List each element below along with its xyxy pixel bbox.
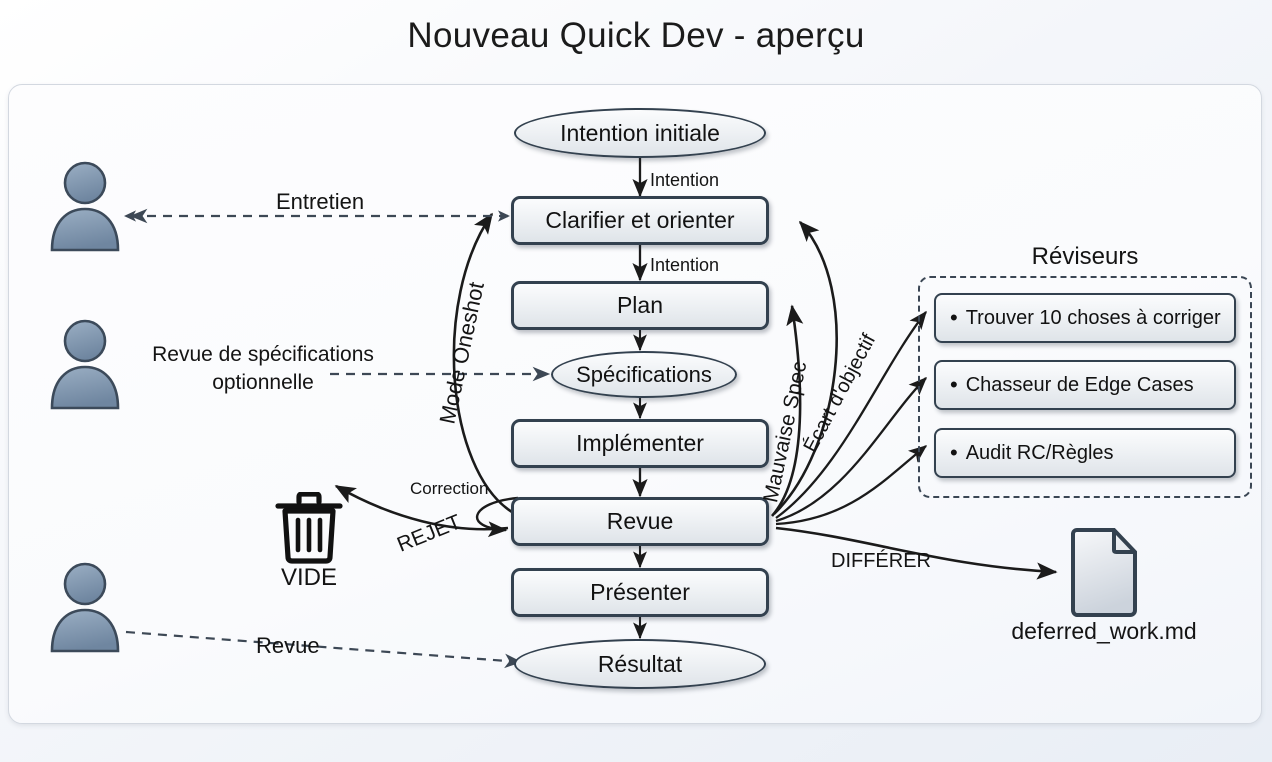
actor-bottom[interactable] xyxy=(46,561,124,653)
edge-label-differer: DIFFÉRER xyxy=(831,550,931,573)
bullet-icon: • xyxy=(950,440,958,466)
reviewer-item-0[interactable]: • Trouver 10 choses à corriger xyxy=(934,293,1236,343)
node-intention-initiale[interactable]: Intention initiale xyxy=(514,108,766,158)
trash-icon xyxy=(272,492,346,564)
node-label: Intention initiale xyxy=(560,120,720,147)
document-icon-wrapper[interactable] xyxy=(1068,528,1140,623)
edge-label-intention-1: Intention xyxy=(650,170,719,191)
edge-label-intention-2: Intention xyxy=(650,255,719,276)
reviewer-item-2[interactable]: • Audit RC/Règles xyxy=(934,428,1236,478)
reviewer-item-1[interactable]: • Chasseur de Edge Cases xyxy=(934,360,1236,410)
edge-label-correction: Correction xyxy=(410,479,488,499)
node-plan[interactable]: Plan xyxy=(511,281,769,330)
node-label: Spécifications xyxy=(576,362,712,388)
node-label: Présenter xyxy=(590,579,690,606)
edge-label-revue-actor: Revue xyxy=(256,633,320,659)
node-resultat[interactable]: Résultat xyxy=(514,639,766,689)
node-revue[interactable]: Revue xyxy=(511,497,769,546)
person-icon xyxy=(46,318,124,410)
diagram-root: Nouveau Quick Dev - aperçu xyxy=(0,0,1272,762)
node-label: Clarifier et orienter xyxy=(545,207,734,234)
node-clarifier-et-orienter[interactable]: Clarifier et orienter xyxy=(511,196,769,245)
edge-label-revue-specifications: Revue de spécifications optionnelle xyxy=(138,341,388,397)
actor-top[interactable] xyxy=(46,160,124,252)
actor-middle[interactable] xyxy=(46,318,124,410)
trash-label: VIDE xyxy=(259,564,359,592)
trash-icon-wrapper[interactable] xyxy=(272,492,346,569)
reviewer-label: Trouver 10 choses à corriger xyxy=(966,307,1221,330)
node-label: Implémenter xyxy=(576,430,704,457)
node-label: Résultat xyxy=(598,651,682,678)
node-specifications[interactable]: Spécifications xyxy=(551,351,737,398)
page-title: Nouveau Quick Dev - aperçu xyxy=(0,16,1272,56)
node-presenter[interactable]: Présenter xyxy=(511,568,769,617)
reviewer-label: Audit RC/Règles xyxy=(966,442,1114,465)
node-implementer[interactable]: Implémenter xyxy=(511,419,769,468)
person-icon xyxy=(46,160,124,252)
reviewers-title: Réviseurs xyxy=(918,243,1252,271)
node-label: Revue xyxy=(607,508,673,535)
reviewer-label: Chasseur de Edge Cases xyxy=(966,374,1194,397)
document-label: deferred_work.md xyxy=(954,618,1254,645)
document-icon xyxy=(1068,528,1140,618)
bullet-icon: • xyxy=(950,305,958,331)
person-icon xyxy=(46,561,124,653)
node-label: Plan xyxy=(617,292,663,319)
bullet-icon: • xyxy=(950,372,958,398)
edge-label-entretien: Entretien xyxy=(276,189,364,215)
